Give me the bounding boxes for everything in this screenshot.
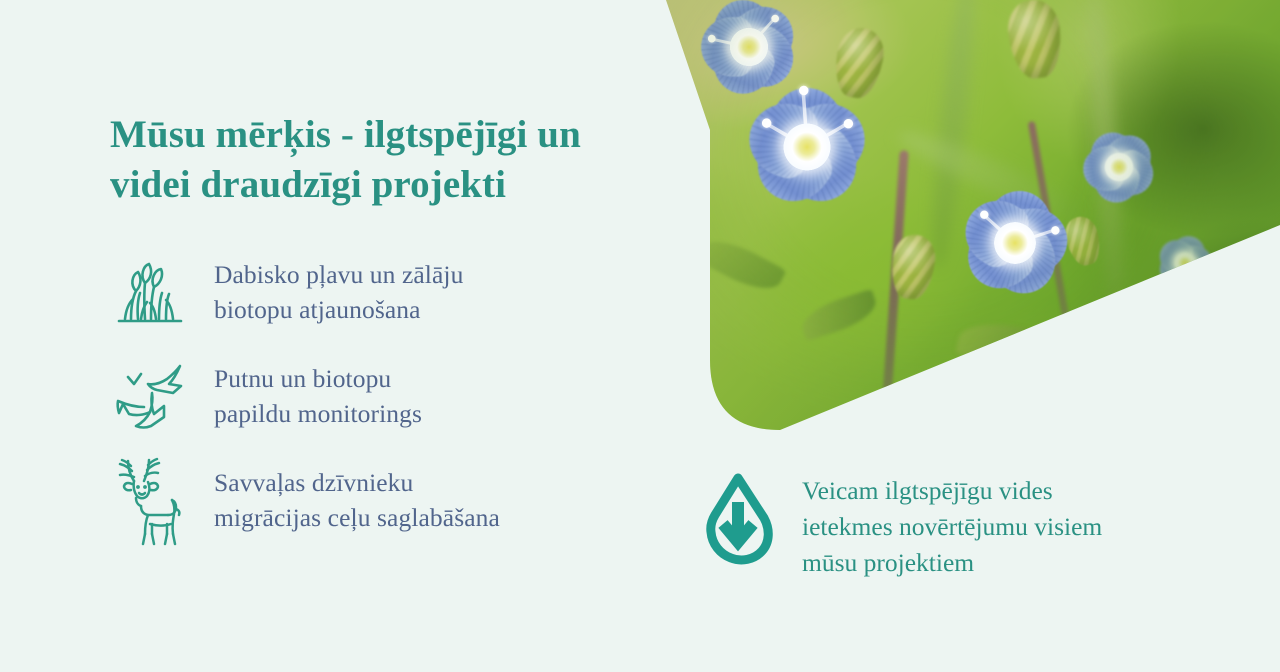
feature-text: Dabisko pļavu un zālāju biotopu atjaunoš… bbox=[214, 257, 463, 327]
grass-icon bbox=[108, 250, 192, 334]
hero-photo bbox=[640, 0, 1280, 430]
callout-line-3: mūsu projektiem bbox=[802, 545, 1102, 581]
callout-line-1: Veicam ilgtspējīgu vides bbox=[802, 473, 1102, 509]
feature-line-2: biotopu atjaunošana bbox=[214, 292, 463, 327]
feature-line-2: migrācijas ceļu saglabāšana bbox=[214, 500, 500, 535]
callout-line-2: ietekmes novērtējumu visiem bbox=[802, 509, 1102, 545]
feature-line-1: Dabisko pļavu un zālāju bbox=[214, 257, 463, 292]
sustainability-callout: Veicam ilgtspējīgu vides ietekmes novērt… bbox=[700, 470, 1240, 582]
speedwell-flower bbox=[719, 59, 896, 236]
page-title: Mūsu mērķis - ilgtspējīgi un videi draud… bbox=[110, 110, 670, 210]
feature-line-2: papildu monitorings bbox=[214, 396, 422, 431]
feature-line-1: Putnu un biotopu bbox=[214, 361, 422, 396]
feature-text: Putnu un biotopu papildu monitorings bbox=[214, 361, 422, 431]
feature-list: Dabisko pļavu un zālāju biotopu atjaunoš… bbox=[108, 240, 668, 552]
feature-line-1: Savvaļas dzīvnieku bbox=[214, 465, 500, 500]
promo-banner: Mūsu mērķis - ilgtspējīgi un videi draud… bbox=[0, 0, 1280, 672]
speedwell-flower bbox=[922, 150, 1109, 337]
feature-item-meadow-restoration: Dabisko pļavu un zālāju biotopu atjaunoš… bbox=[108, 240, 668, 344]
headline-line-1: Mūsu mērķis - ilgtspējīgi bbox=[110, 113, 527, 156]
feature-item-bird-monitoring: Putnu un biotopu papildu monitorings bbox=[108, 344, 668, 448]
birds-icon bbox=[108, 354, 192, 438]
deer-icon bbox=[108, 458, 192, 542]
callout-text: Veicam ilgtspējīgu vides ietekmes novērt… bbox=[802, 470, 1102, 582]
water-drop-down-arrow-icon bbox=[700, 470, 776, 570]
feature-item-wildlife-corridors: Savvaļas dzīvnieku migrācijas ceļu sagla… bbox=[108, 448, 668, 552]
feature-text: Savvaļas dzīvnieku migrācijas ceļu sagla… bbox=[214, 465, 500, 535]
